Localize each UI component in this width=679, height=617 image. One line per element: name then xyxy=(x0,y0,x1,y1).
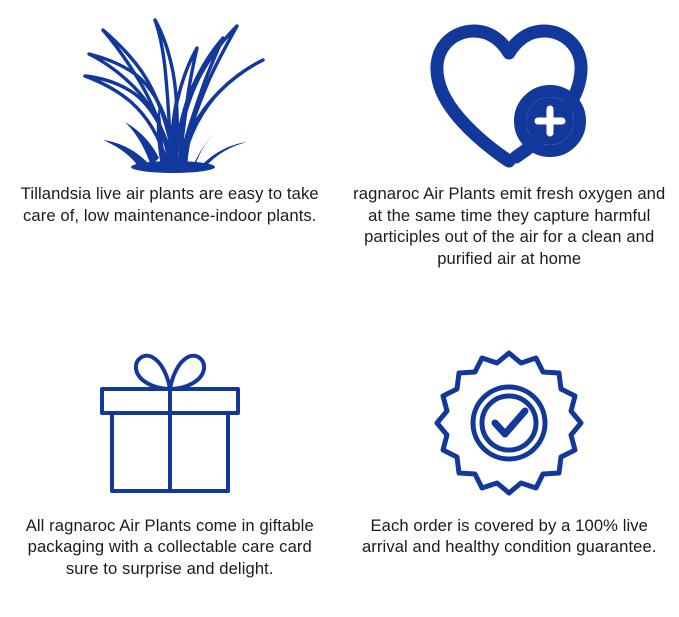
air-plant-icon xyxy=(75,8,265,183)
feature-card-guarantee: Each order is covered by a 100% live arr… xyxy=(340,309,679,617)
feature-card-air-plant: Tillandsia live air plants are easy to t… xyxy=(0,0,340,309)
feature-caption: Each order is covered by a 100% live arr… xyxy=(359,515,659,558)
gift-box-icon xyxy=(80,335,260,515)
feature-card-air-purify: ragnaroc Air Plants emit fresh oxygen an… xyxy=(340,0,679,309)
feature-caption: ragnaroc Air Plants emit fresh oxygen an… xyxy=(350,183,670,269)
heart-plus-icon xyxy=(424,8,594,183)
feature-caption: Tillandsia live air plants are easy to t… xyxy=(18,183,322,226)
guarantee-badge-icon xyxy=(429,335,589,515)
feature-card-gift-packaging: All ragnaroc Air Plants come in giftable… xyxy=(0,309,340,617)
feature-grid: Tillandsia live air plants are easy to t… xyxy=(0,0,679,617)
feature-caption: All ragnaroc Air Plants come in giftable… xyxy=(18,515,322,580)
